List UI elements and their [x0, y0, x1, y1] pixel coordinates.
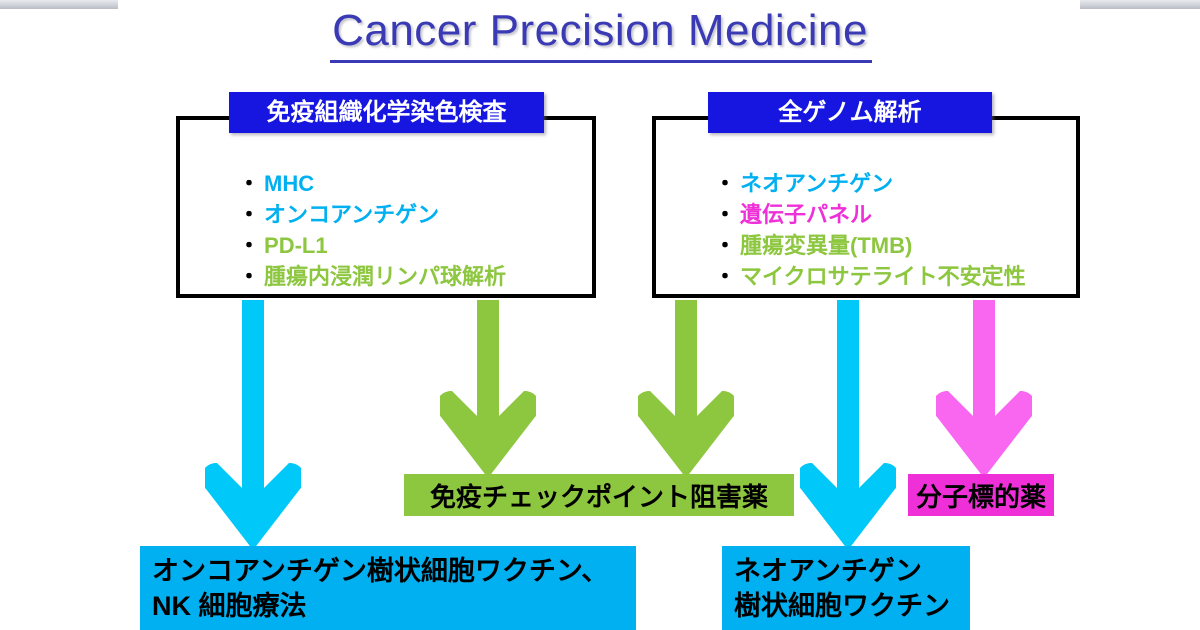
bullet-icon: ・	[238, 264, 260, 289]
list-item: ・腫瘍変異量(TMB)	[714, 230, 1026, 261]
panel-list-immunohistochemistry: ・MHC ・オンコアンチゲン ・PD-L1 ・腫瘍内浸潤リンパ球解析	[198, 168, 506, 292]
bullet-icon: ・	[238, 171, 260, 196]
slide-canvas: Cancer Precision Medicine 免疫組織化学染色検査 ・MH…	[0, 0, 1200, 630]
outcome-label: 分子標的薬	[908, 477, 1054, 514]
bullet-icon: ・	[714, 233, 736, 258]
list-item-label: マイクロサテライト不安定性	[740, 264, 1026, 289]
bullet-icon: ・	[714, 264, 736, 289]
outcome-molecular-targeted-drug: 分子標的薬	[908, 474, 1054, 516]
arrow-ici-left-icon	[440, 300, 536, 478]
panel-list-whole-genome-analysis: ・ネオアンチゲン ・遺伝子パネル ・腫瘍変異量(TMB) ・マイクロサテライト不…	[674, 168, 1026, 292]
list-item: ・MHC	[238, 168, 506, 199]
page-title: Cancer Precision Medicine	[0, 6, 1200, 56]
list-item-label: 腫瘍変異量(TMB)	[740, 233, 912, 258]
list-item: ・遺伝子パネル	[714, 199, 1026, 230]
list-item: ・マイクロサテライト不安定性	[714, 261, 1026, 292]
list-item-label: オンコアンチゲン	[264, 202, 439, 227]
list-item: ・オンコアンチゲン	[238, 199, 506, 230]
outcome-label-line1: オンコアンチゲン樹状細胞ワクチン、	[152, 554, 636, 589]
list-item: ・PD-L1	[238, 230, 506, 261]
bullet-icon: ・	[714, 171, 736, 196]
outcome-label-group: ネオアンチゲン 樹状細胞ワクチン	[734, 554, 970, 624]
list-item: ・ネオアンチゲン	[714, 168, 1026, 199]
outcome-label: 免疫チェックポイント阻害薬	[404, 477, 794, 514]
outcome-immune-checkpoint-inhibitor: 免疫チェックポイント阻害薬	[404, 474, 794, 516]
arrow-targeted-drug-icon	[936, 300, 1032, 478]
list-item-label: ネオアンチゲン	[740, 171, 893, 196]
outcome-label-line1: ネオアンチゲン	[734, 554, 970, 589]
panel-header-whole-genome-analysis: 全ゲノム解析	[708, 92, 992, 133]
bullet-icon: ・	[238, 202, 260, 227]
page-title-underline	[330, 60, 872, 63]
outcome-neo-antigen-vaccine: ネオアンチゲン 樹状細胞ワクチン	[722, 546, 970, 630]
arrow-onco-vaccine-icon	[205, 300, 301, 550]
outcome-label-line2: NK 細胞療法	[152, 589, 636, 624]
list-item-label: PD-L1	[264, 233, 328, 258]
outcome-onco-antigen-vaccine: オンコアンチゲン樹状細胞ワクチン、 NK 細胞療法	[140, 546, 636, 630]
list-item-label: 腫瘍内浸潤リンパ球解析	[264, 264, 506, 289]
arrow-neo-vaccine-icon	[800, 300, 896, 550]
list-item: ・腫瘍内浸潤リンパ球解析	[238, 261, 506, 292]
bullet-icon: ・	[714, 202, 736, 227]
bullet-icon: ・	[238, 233, 260, 258]
arrow-ici-right-icon	[638, 300, 734, 478]
list-item-label: 遺伝子パネル	[740, 202, 872, 227]
outcome-label-line2: 樹状細胞ワクチン	[734, 589, 970, 624]
list-item-label: MHC	[264, 171, 314, 196]
panel-header-immunohistochemistry: 免疫組織化学染色検査	[229, 92, 544, 133]
outcome-label-group: オンコアンチゲン樹状細胞ワクチン、 NK 細胞療法	[152, 554, 636, 624]
